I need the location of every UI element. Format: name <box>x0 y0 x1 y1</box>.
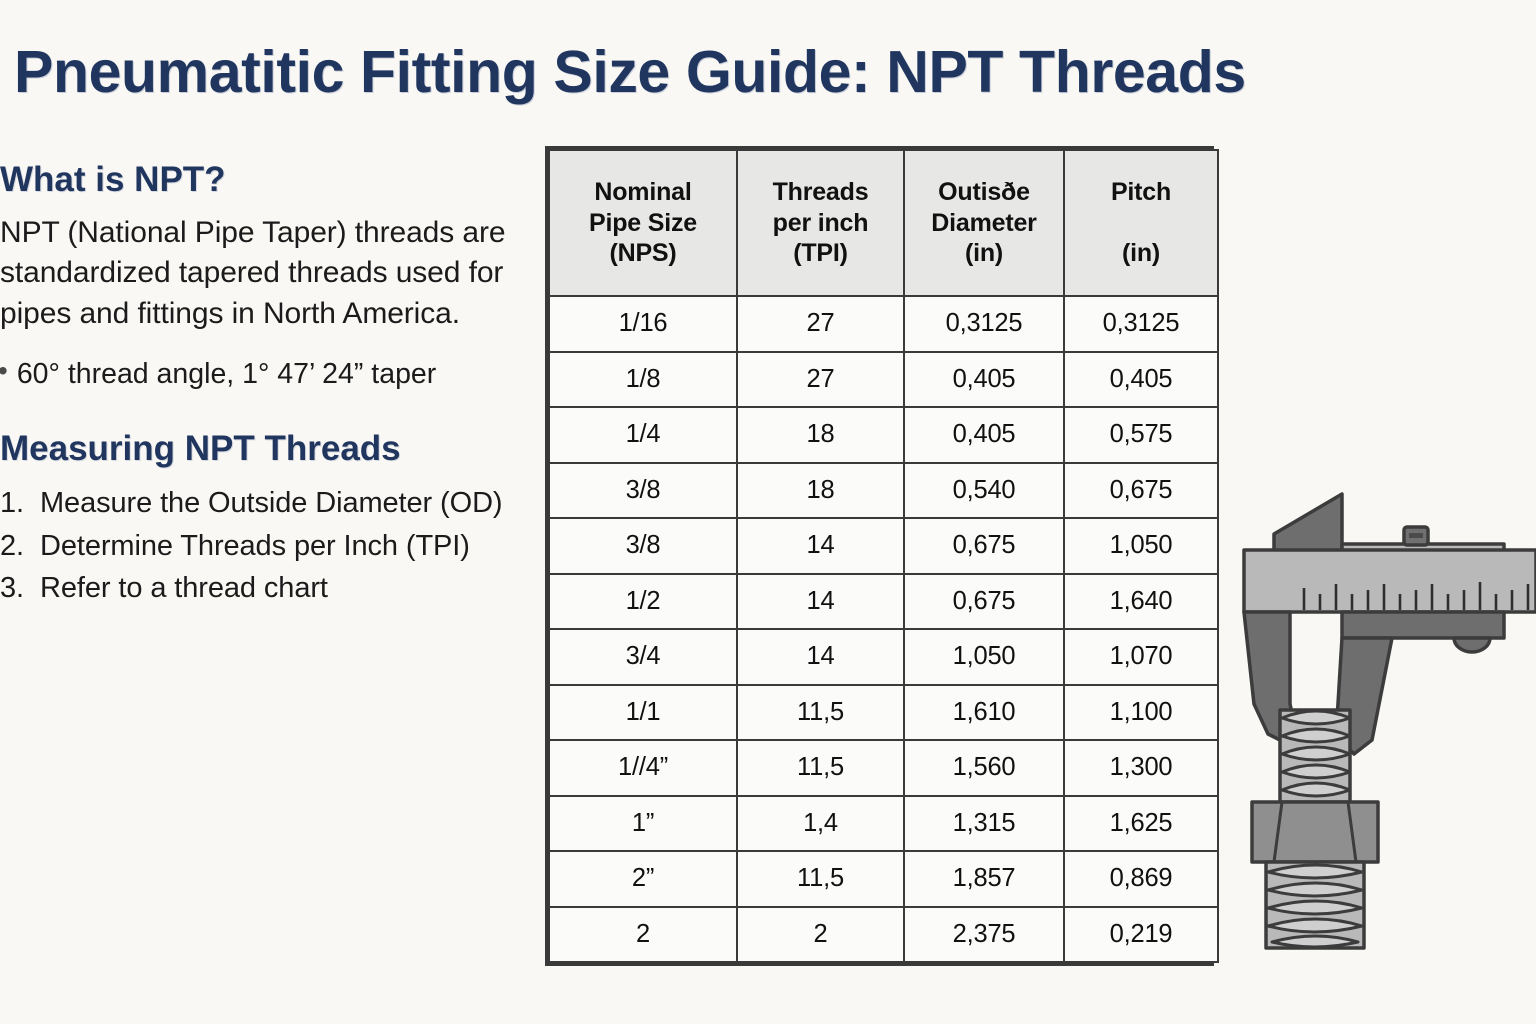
cell-nps: 1/4 <box>549 407 737 463</box>
cell-pitch: 1,625 <box>1064 796 1218 852</box>
list-item-number: 1. <box>0 484 40 523</box>
cell-tpi: 27 <box>737 296 904 352</box>
cell-nps: 3/8 <box>549 518 737 574</box>
cell-od: 1,857 <box>904 851 1064 907</box>
slide-canvas: Pneumatitic Fitting Size Guide: NPT Thre… <box>0 0 1536 1024</box>
cell-tpi: 11,5 <box>737 740 904 796</box>
cell-pitch: 1,100 <box>1064 685 1218 741</box>
list-item-label: Determine Threads per Inch (TPI) <box>40 527 545 566</box>
cell-nps: 1/16 <box>549 296 737 352</box>
table-row: 1//4” 11,5 1,560 1,300 <box>549 740 1218 796</box>
list-item: 3. Refer to a thread chart <box>0 569 545 608</box>
cell-tpi: 14 <box>737 518 904 574</box>
bullet-item-label: 60° thread angle, 1° 47’ 24” taper <box>17 356 436 393</box>
cell-pitch: 1,300 <box>1064 740 1218 796</box>
list-item-label: Measure the Outside Diameter (OD) <box>40 484 545 523</box>
table-row: 2” 11,5 1,857 0,869 <box>549 851 1218 907</box>
list-item-number: 2. <box>0 527 40 566</box>
table-row: 3/8 14 0,675 1,050 <box>549 518 1218 574</box>
column-header-pitch: Pitch (in) <box>1064 150 1218 296</box>
cell-pitch: 0,219 <box>1064 907 1218 963</box>
caliper-main-beam-icon <box>1244 550 1536 612</box>
table-row: 3/4 14 1,050 1,070 <box>549 629 1218 685</box>
table-header: Nominal Pipe Size (NPS) Threads per inch… <box>549 150 1218 296</box>
table-row: 1/1 11,5 1,610 1,100 <box>549 685 1218 741</box>
section-heading-what-is-npt: What is NPT? <box>0 160 545 199</box>
cell-od: 1,610 <box>904 685 1064 741</box>
list-item: 2. Determine Threads per Inch (TPI) <box>0 527 545 566</box>
npt-size-table: Nominal Pipe Size (NPS) Threads per inch… <box>548 149 1219 963</box>
cell-nps: 3/4 <box>549 629 737 685</box>
bullet-dot-icon: • <box>0 356 8 385</box>
table-row: 1/4 18 0,405 0,575 <box>549 407 1218 463</box>
bullet-item-thread-angle: • 60° thread angle, 1° 47’ 24” taper <box>0 356 545 393</box>
page-title: Pneumatitic Fitting Size Guide: NPT Thre… <box>14 38 1494 106</box>
cell-nps: 1/8 <box>549 352 737 408</box>
measuring-steps-list: 1. Measure the Outside Diameter (OD) 2. … <box>0 484 545 608</box>
cell-nps: 1//4” <box>549 740 737 796</box>
cell-pitch: 1,070 <box>1064 629 1218 685</box>
cell-tpi: 14 <box>737 629 904 685</box>
cell-tpi: 11,5 <box>737 685 904 741</box>
list-item-number: 3. <box>0 569 40 608</box>
cell-od: 0,405 <box>904 352 1064 408</box>
table-row: 3/8 18 0,540 0,675 <box>549 463 1218 519</box>
table-row: 2 2 2,375 0,219 <box>549 907 1218 963</box>
cell-tpi: 27 <box>737 352 904 408</box>
cell-tpi: 18 <box>737 407 904 463</box>
thumb-screw-groove-icon <box>1409 533 1423 538</box>
caliper-bolt-svg <box>1232 472 1536 950</box>
caliper-slider-body-icon <box>1342 612 1504 638</box>
cell-nps: 1” <box>549 796 737 852</box>
list-item-label: Refer to a thread chart <box>40 569 545 608</box>
cell-pitch: 0,405 <box>1064 352 1218 408</box>
column-header-outside-diameter: Outisðe Diameter (in) <box>904 150 1064 296</box>
hex-nut-icon <box>1252 802 1378 862</box>
cell-pitch: 0,675 <box>1064 463 1218 519</box>
npt-size-chart: Nominal Pipe Size (NPS) Threads per inch… <box>545 146 1214 966</box>
cell-tpi: 14 <box>737 574 904 630</box>
table-row: 1” 1,4 1,315 1,625 <box>549 796 1218 852</box>
cell-tpi: 2 <box>737 907 904 963</box>
cell-nps: 3/8 <box>549 463 737 519</box>
column-header-nominal-pipe-size: Nominal Pipe Size (NPS) <box>549 150 737 296</box>
cell-od: 1,050 <box>904 629 1064 685</box>
left-content-column: What is NPT? NPT (National Pipe Taper) t… <box>0 160 545 612</box>
caliper-bolt-illustration <box>1232 472 1536 950</box>
cell-od: 0,3125 <box>904 296 1064 352</box>
table-row: 1/2 14 0,675 1,640 <box>549 574 1218 630</box>
cell-od: 0,540 <box>904 463 1064 519</box>
table-row: 1/16 27 0,3125 0,3125 <box>549 296 1218 352</box>
cell-nps: 1/2 <box>549 574 737 630</box>
cell-nps: 2 <box>549 907 737 963</box>
cell-tpi: 1,4 <box>737 796 904 852</box>
cell-od: 0,675 <box>904 574 1064 630</box>
cell-tpi: 18 <box>737 463 904 519</box>
section-heading-measuring-npt-threads: Measuring NPT Threads <box>0 429 545 468</box>
npt-description-paragraph: NPT (National Pipe Taper) threads are st… <box>0 213 545 334</box>
table-row: 1/8 27 0,405 0,405 <box>549 352 1218 408</box>
cell-od: 1,560 <box>904 740 1064 796</box>
cell-od: 0,675 <box>904 518 1064 574</box>
cell-tpi: 11,5 <box>737 851 904 907</box>
list-item: 1. Measure the Outside Diameter (OD) <box>0 484 545 523</box>
cell-nps: 2” <box>549 851 737 907</box>
cell-od: 1,315 <box>904 796 1064 852</box>
column-header-threads-per-inch: Threads per inch (TPI) <box>737 150 904 296</box>
table-header-row: Nominal Pipe Size (NPS) Threads per inch… <box>549 150 1218 296</box>
caliper-slider-thumbrest-icon <box>1454 638 1490 652</box>
cell-pitch: 1,640 <box>1064 574 1218 630</box>
table-body: 1/16 27 0,3125 0,3125 1/8 27 0,405 0,405… <box>549 296 1218 962</box>
cell-od: 2,375 <box>904 907 1064 963</box>
cell-od: 0,405 <box>904 407 1064 463</box>
cell-pitch: 0,869 <box>1064 851 1218 907</box>
cell-pitch: 0,575 <box>1064 407 1218 463</box>
cell-nps: 1/1 <box>549 685 737 741</box>
cell-pitch: 1,050 <box>1064 518 1218 574</box>
cell-pitch: 0,3125 <box>1064 296 1218 352</box>
